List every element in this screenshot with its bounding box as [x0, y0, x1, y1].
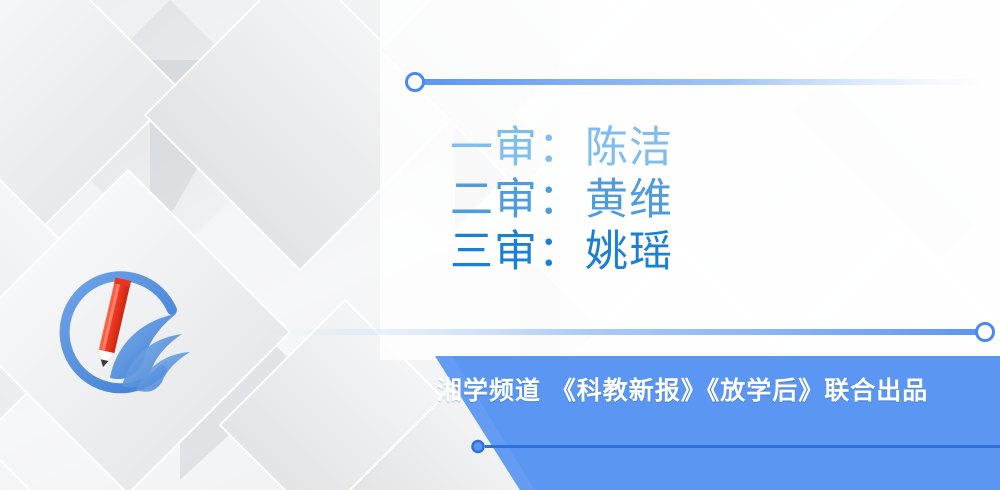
credit-name: 陈洁 [585, 123, 673, 173]
credit-row: 三审：姚瑶 [450, 226, 920, 278]
credit-name: 黄维 [585, 175, 673, 225]
decor-line-bottom [255, 322, 995, 342]
credit-name: 姚瑶 [585, 227, 673, 277]
decor-line-top [405, 72, 985, 92]
credit-row: 二审：黄维 [450, 174, 920, 226]
credit-separator: ： [538, 175, 581, 225]
credit-separator: ： [538, 227, 581, 277]
credit-row: 一审：陈洁 [450, 122, 920, 174]
credit-separator: ： [538, 123, 581, 173]
slide-canvas: 湘学频道 《科教新报》《放学后》联合出品 一审：陈洁 二审：黄维 三审：姚瑶 [0, 0, 1000, 490]
credits-block: 一审：陈洁 二审：黄维 三审：姚瑶 [450, 122, 920, 278]
credit-role: 三审 [450, 227, 538, 277]
credit-role: 一审 [450, 123, 538, 173]
credit-role: 二审 [450, 175, 538, 225]
banner-title: 湘学频道 《科教新报》《放学后》联合出品 [437, 371, 997, 411]
